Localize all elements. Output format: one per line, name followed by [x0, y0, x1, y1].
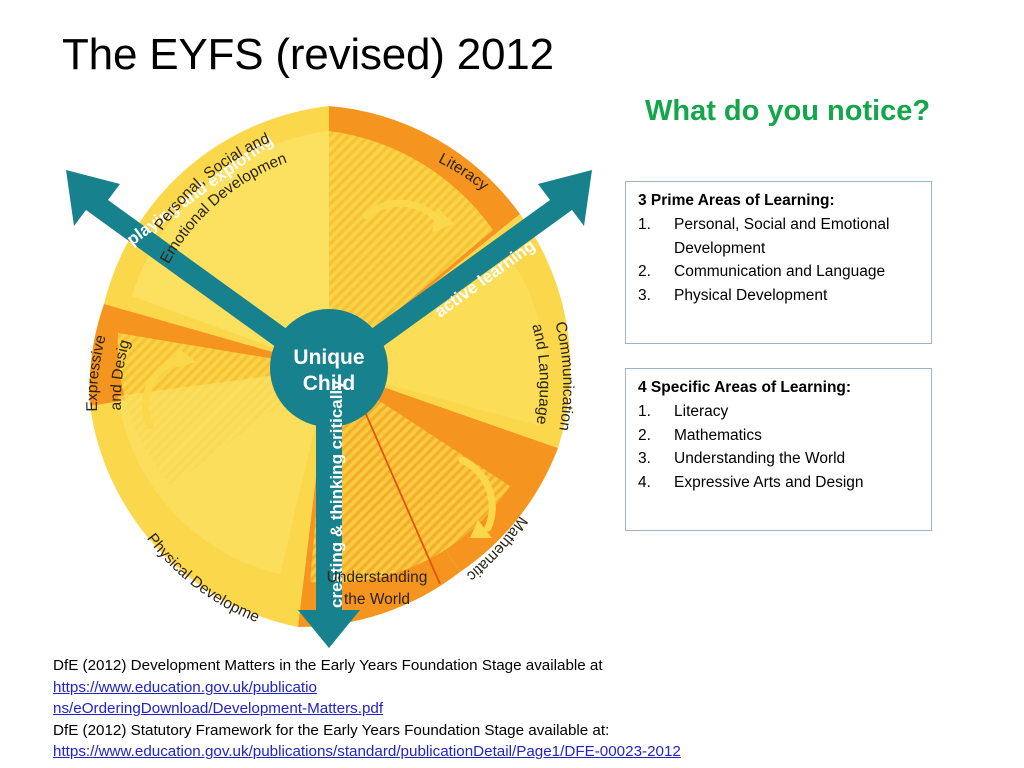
- specific-areas-title: 4 Specific Areas of Learning:: [638, 379, 919, 397]
- list-item-label: Communication and Language: [674, 260, 919, 284]
- segment-label-expressive-arts-design-line2: and Design: [40, 96, 133, 411]
- reference-link-1-part-2[interactable]: ns/eOrderingDownload/Development-Matters…: [53, 698, 793, 720]
- reference-line-2: DfE (2012) Statutory Framework for the E…: [53, 720, 793, 742]
- list-item-label: Personal, Social and Emotional Developme…: [674, 213, 919, 260]
- list-item-label: Physical Development: [674, 284, 919, 308]
- list-item: 1. Literacy: [638, 400, 919, 424]
- segment-label-understanding-the-world-line1: Understanding: [327, 569, 428, 586]
- prime-areas-list: 1. Personal, Social and Emotional Develo…: [638, 213, 919, 307]
- list-item: 3. Physical Development: [638, 284, 919, 308]
- list-item-number: 4.: [638, 471, 674, 495]
- prime-areas-title: 3 Prime Areas of Learning:: [638, 192, 919, 210]
- page-title: The EYFS (revised) 2012: [62, 30, 554, 80]
- list-item-number: 1.: [638, 400, 674, 424]
- list-item-number: 2.: [638, 260, 674, 284]
- eyfs-wheel-diagram: Unique Child playing and exploring activ…: [40, 96, 620, 652]
- specific-areas-box: 4 Specific Areas of Learning: 1. Literac…: [625, 368, 932, 531]
- list-item-label: Mathematics: [674, 424, 919, 448]
- list-item-label: Literacy: [674, 400, 919, 424]
- list-item: 3. Understanding the World: [638, 447, 919, 471]
- segment-label-expressive-arts-design-line1: Expressive Arts: [40, 96, 110, 412]
- specific-areas-list: 1. Literacy 2. Mathematics 3. Understand…: [638, 400, 919, 494]
- center-label-line1: Unique: [293, 346, 364, 369]
- list-item-number: 3.: [638, 284, 674, 308]
- reference-link-1-part-1[interactable]: https://www.education.gov.uk/publicatio: [53, 677, 793, 699]
- list-item-number: 1.: [638, 213, 674, 260]
- list-item-number: 2.: [638, 424, 674, 448]
- segment-label-understanding-the-world-line2: the World: [344, 591, 410, 608]
- list-item: 4. Expressive Arts and Design: [638, 471, 919, 495]
- notice-heading: What do you notice?: [645, 95, 930, 128]
- list-item: 2. Mathematics: [638, 424, 919, 448]
- list-item-label: Understanding the World: [674, 447, 919, 471]
- references-block: DfE (2012) Development Matters in the Ea…: [53, 655, 793, 763]
- slide-canvas: The EYFS (revised) 2012 What do you noti…: [0, 0, 1024, 768]
- reference-link-2[interactable]: https://www.education.gov.uk/publication…: [53, 741, 793, 763]
- list-item-label: Expressive Arts and Design: [674, 471, 919, 495]
- list-item: 2. Communication and Language: [638, 260, 919, 284]
- list-item: 1. Personal, Social and Emotional Develo…: [638, 213, 919, 260]
- reference-line-1: DfE (2012) Development Matters in the Ea…: [53, 655, 793, 677]
- prime-areas-box: 3 Prime Areas of Learning: 1. Personal, …: [625, 181, 932, 344]
- list-item-number: 3.: [638, 447, 674, 471]
